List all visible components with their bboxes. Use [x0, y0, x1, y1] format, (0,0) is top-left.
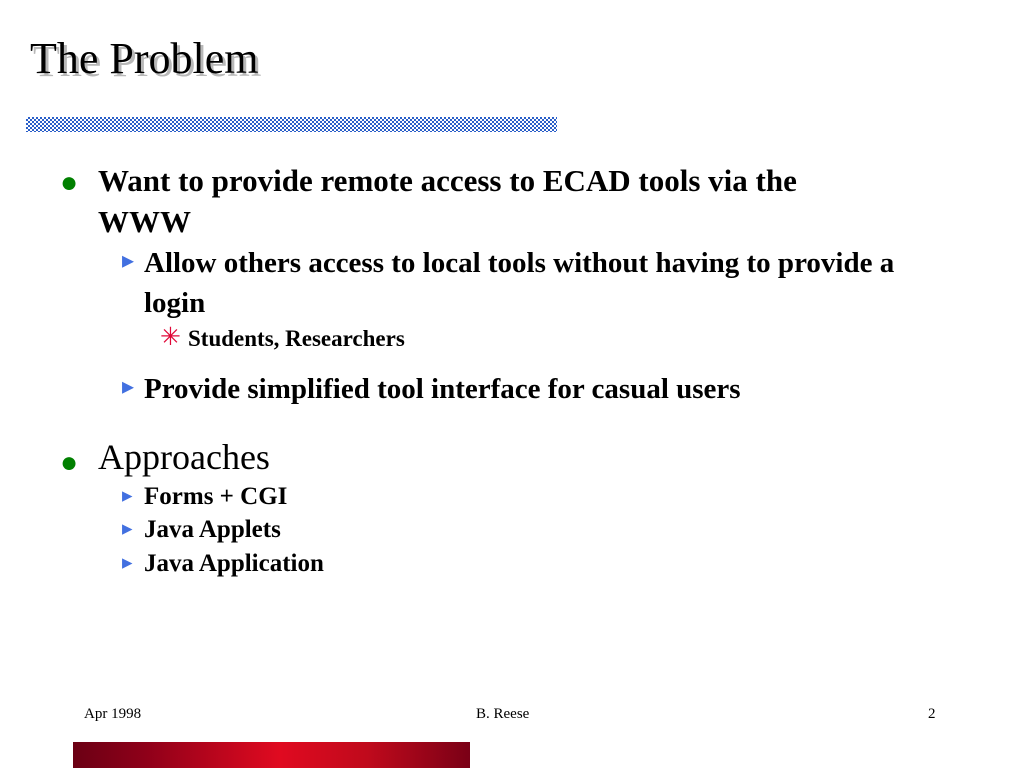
bullet-item-level1: ● Want to provide remote access to ECAD …	[0, 160, 1024, 242]
bullet-text: Allow others access to local tools witho…	[144, 244, 904, 322]
slide-body: ● Want to provide remote access to ECAD …	[0, 160, 1024, 581]
bullet-star-icon: ✳	[160, 324, 188, 350]
bullet-item-level1: ● Approaches	[0, 436, 1024, 479]
bullet-triangle-icon: ▸	[122, 514, 144, 539]
bullet-item-level2: ▸ Provide simplified tool interface for …	[0, 370, 1024, 409]
bullet-triangle-icon: ▸	[122, 370, 144, 399]
bullet-text: Java Applets	[144, 514, 904, 547]
bullet-triangle-icon: ▸	[122, 548, 144, 573]
bullet-text: Provide simplified tool interface for ca…	[144, 370, 904, 409]
page-title: The Problem	[30, 37, 259, 81]
spacer	[0, 356, 1024, 370]
bullet-triangle-icon: ▸	[122, 481, 144, 506]
bullet-disc-icon: ●	[60, 436, 98, 478]
spacer	[0, 410, 1024, 436]
footer-date: Apr 1998	[84, 706, 141, 723]
bullet-item-level2: ▸ Allow others access to local tools wit…	[0, 244, 1024, 322]
bullet-item-level2: ▸ Java Application	[0, 548, 1024, 581]
bullet-text: Forms + CGI	[144, 481, 904, 514]
bullet-item-level2: ▸ Forms + CGI	[0, 481, 1024, 514]
bullet-text: Students, Researchers	[188, 324, 1024, 354]
title-underline-rule	[26, 117, 557, 132]
bullet-item-level2: ▸ Java Applets	[0, 514, 1024, 547]
bullet-text: Java Application	[144, 548, 904, 581]
bullet-item-level3: ✳ Students, Researchers	[0, 324, 1024, 354]
bullet-text: Approaches	[98, 436, 888, 479]
footer-page-number: 2	[928, 706, 936, 723]
footer-author: B. Reese	[476, 706, 529, 723]
slide-footer: Apr 1998 B. Reese 2	[0, 706, 1024, 732]
bullet-triangle-icon: ▸	[122, 244, 144, 273]
bottom-accent-bar	[73, 742, 470, 768]
bullet-text: Want to provide remote access to ECAD to…	[98, 160, 888, 242]
bullet-disc-icon: ●	[60, 160, 98, 198]
